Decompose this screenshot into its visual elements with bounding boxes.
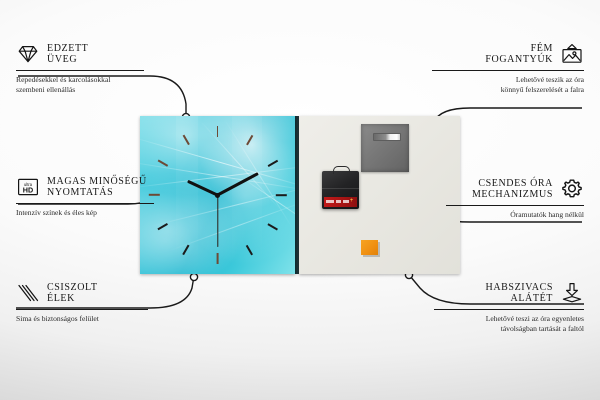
feature-header: CSENDES ÓRA MECHANIZMUS: [446, 177, 584, 201]
feature-title-line: EDZETT: [47, 43, 88, 55]
feature-rule: [434, 309, 584, 310]
product-image: +: [140, 116, 460, 274]
feature-header: FÉM FOGANTYÚK: [432, 42, 584, 66]
feature-title-line: MECHANIZMUS: [472, 189, 553, 201]
feature-title-line: FOGANTYÚK: [485, 54, 553, 66]
quartz-mechanism: +: [322, 171, 359, 209]
picture-hanger-icon: [560, 42, 584, 66]
feature-rule: [432, 70, 584, 71]
feature-title: MAGAS MINŐSÉGŰ NYOMTATÁS: [47, 176, 147, 199]
feature-title: CSENDES ÓRA MECHANIZMUS: [472, 178, 553, 201]
feature-rule: [16, 203, 154, 204]
metal-hanger-plate: [361, 124, 409, 172]
product-infographic: + EDZETT ÜVEG Repedésekkel és karcolások…: [0, 0, 600, 400]
hanger-slot: [373, 133, 401, 141]
mechanism-hanging-loop: [333, 166, 350, 174]
clock-tick-3: [276, 194, 287, 196]
feature-silent-mechanism: CSENDES ÓRA MECHANIZMUS Óramutatók hang …: [446, 177, 584, 220]
feature-title-line: MAGAS MINŐSÉGŰ: [47, 176, 147, 188]
feature-foam-pad: HABSZIVACS ALÁTÉT Lehetővé teszi az óra …: [434, 281, 584, 334]
clock-hand-cap: [215, 193, 220, 198]
feature-description-line: szembeni ellenállás: [16, 85, 156, 95]
feature-header: CSISZOLT ÉLEK: [16, 281, 156, 305]
feature-title: EDZETT ÜVEG: [47, 43, 88, 66]
battery-plus-icon: +: [349, 199, 354, 204]
feature-rule: [16, 309, 148, 310]
feature-rule: [16, 70, 144, 71]
feature-title-line: CSISZOLT: [47, 282, 98, 294]
feature-header: EDZETT ÜVEG: [16, 42, 156, 66]
feature-title-line: HABSZIVACS: [486, 282, 554, 294]
feature-title: CSISZOLT ÉLEK: [47, 282, 98, 305]
feature-title-line: ÉLEK: [47, 293, 98, 305]
clock-tick-6: [217, 253, 219, 264]
feature-title-line: ÜVEG: [47, 54, 88, 66]
feature-description-line: Lehetővé teszi az óra egyenletes: [434, 314, 584, 324]
feature-tempered-glass: EDZETT ÜVEG Repedésekkel és karcolásokka…: [16, 42, 156, 95]
svg-text:HD: HD: [23, 186, 33, 195]
feature-title: HABSZIVACS ALÁTÉT: [486, 282, 554, 305]
feature-rule: [446, 205, 584, 206]
feature-polished-edges: CSISZOLT ÉLEK Sima és biztonságos felüle…: [16, 281, 156, 324]
feature-high-quality-print: ultra HD MAGAS MINŐSÉGŰ NYOMTATÁS Intenz…: [16, 175, 166, 218]
feature-title-line: CSENDES ÓRA: [472, 178, 553, 190]
label-bar: [326, 200, 334, 203]
foam-spacer-pad: [361, 240, 378, 255]
feature-title: FÉM FOGANTYÚK: [485, 43, 553, 66]
feature-description-line: Repedésekkel és karcolásokkal: [16, 75, 156, 85]
feature-description-line: Óramutatók hang nélkül: [446, 210, 584, 220]
diamond-icon: [16, 42, 40, 66]
battery-label: +: [324, 197, 357, 207]
feature-description-line: könnyű felszerelését a falra: [432, 85, 584, 95]
gear-icon: [560, 177, 584, 201]
feature-title-line: NYOMTATÁS: [47, 187, 147, 199]
polished-edges-icon: [16, 281, 40, 305]
feature-header: HABSZIVACS ALÁTÉT: [434, 281, 584, 305]
ultra-hd-badge-icon: ultra HD: [16, 175, 40, 199]
feature-title-line: FÉM: [485, 43, 553, 55]
clock-second-hand: [217, 195, 218, 247]
feature-description-line: Intenzív színek és éles kép: [16, 208, 166, 218]
label-bar: [336, 200, 341, 203]
feature-description-line: Sima és biztonságos felület: [16, 314, 156, 324]
feature-description-line: távolságban tartását a faltól: [434, 324, 584, 334]
feature-title-line: ALÁTÉT: [486, 293, 554, 305]
feature-description-line: Lehetővé teszik az óra: [432, 75, 584, 85]
feature-header: ultra HD MAGAS MINŐSÉGŰ NYOMTATÁS: [16, 175, 166, 199]
clock-back-panel: +: [299, 116, 460, 274]
feature-metal-handles: FÉM FOGANTYÚK Lehetővé teszik az óra kön…: [432, 42, 584, 95]
mechanism-seam: [322, 188, 359, 189]
foam-pad-arrow-icon: [560, 281, 584, 305]
clock-tick-12: [217, 126, 219, 137]
